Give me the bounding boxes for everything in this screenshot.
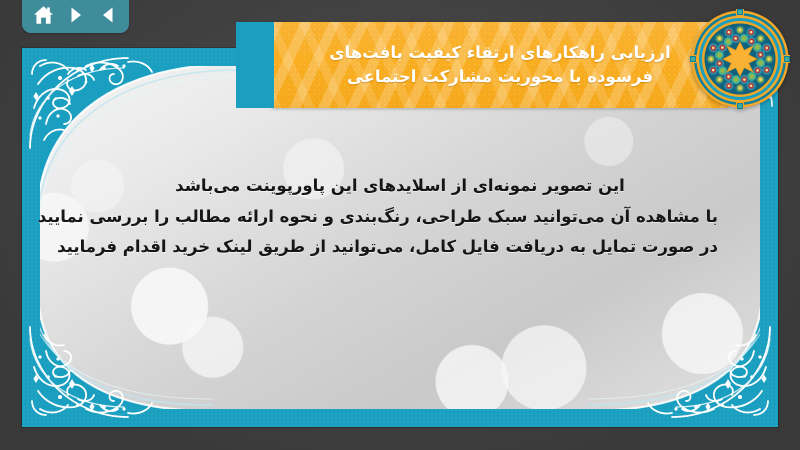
body-line-3: در صورت تمایل به دریافت فایل کامل، می‌تو… <box>82 239 718 256</box>
persian-rosette-ornament-icon <box>690 9 790 109</box>
triangle-left-icon <box>98 5 118 25</box>
slide-body-text: این تصویر نمونه‌ای از اسلایدهای این پاور… <box>82 178 718 256</box>
title-line-1: ارزیابی راهکارهای ارتقاء کیفیت بافت‌های <box>329 44 670 62</box>
home-icon <box>33 5 54 26</box>
corner-sweep-bottom-left <box>40 291 213 409</box>
slide-title-banner: ارزیابی راهکارهای ارتقاء کیفیت بافت‌های … <box>272 22 728 108</box>
slide-viewer: این تصویر نمونه‌ای از اسلایدهای این پاور… <box>0 0 800 450</box>
forward-button[interactable] <box>64 3 88 27</box>
body-line-2: با مشاهده آن می‌توانید سبک طراحی، رنگ‌بن… <box>82 209 718 226</box>
title-line-2: فرسوده با محوریت مشارکت اجتماعی <box>347 68 653 86</box>
back-button[interactable] <box>96 3 120 27</box>
corner-sweep-bottom-right <box>587 291 760 409</box>
body-line-1: این تصویر نمونه‌ای از اسلایدهای این پاور… <box>82 178 718 195</box>
navigation-bar[interactable] <box>22 0 129 33</box>
title-teal-slab <box>236 22 274 108</box>
triangle-right-icon <box>66 5 86 25</box>
home-button[interactable] <box>31 3 55 27</box>
slide-title: ارزیابی راهکارهای ارتقاء کیفیت بافت‌های … <box>272 22 728 108</box>
